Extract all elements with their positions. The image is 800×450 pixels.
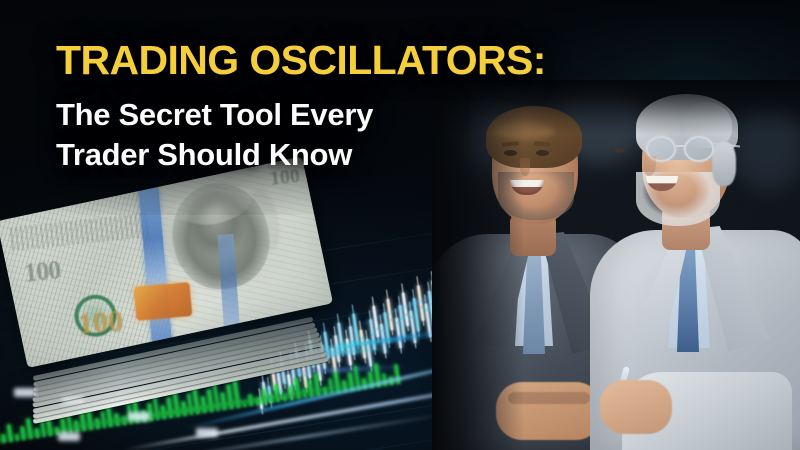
banner-text-block: TRADING OSCILLATORS: The Secret Tool Eve… — [56, 40, 546, 176]
subtitle-line-2: Trader Should Know — [56, 135, 546, 175]
hand — [600, 380, 672, 434]
bill-denomination-bottom: 100 — [77, 304, 125, 342]
page-title: TRADING OSCILLATORS: — [56, 40, 546, 81]
axis-value-chip — [58, 432, 80, 441]
axis-value-chip — [196, 428, 218, 437]
eye — [614, 148, 625, 153]
lens-right — [684, 136, 714, 162]
clasped-hands — [496, 382, 602, 440]
axis-value-chip — [128, 412, 150, 421]
glasses-bridge — [676, 145, 686, 147]
businessman-grey-hair-glasses — [596, 80, 800, 450]
subtitle-line-1: The Secret Tool Every — [56, 95, 546, 135]
banner-subtitle: The Secret Tool Every Trader Should Know — [56, 95, 546, 176]
bill-denomination-top-left: 100 — [23, 255, 62, 289]
trading-oscillators-banner: 100 100 100 — [0, 0, 800, 450]
inkwell-bell — [134, 282, 193, 321]
